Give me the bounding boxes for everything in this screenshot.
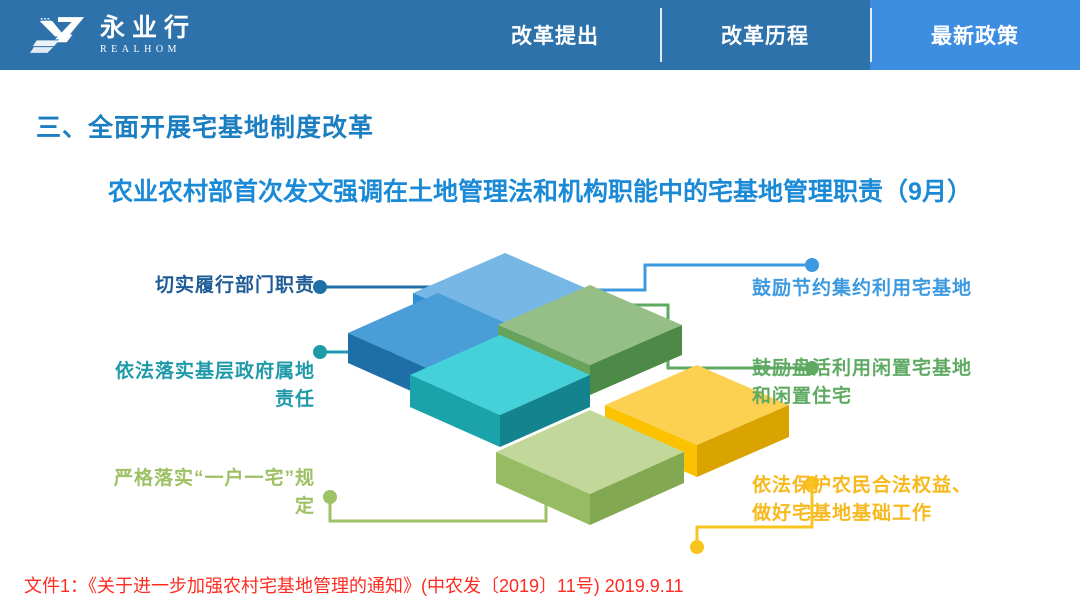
brand-name-cn: 永业行 [100,15,196,41]
connector-dot [323,490,337,504]
nav-tabs: 改革提出 改革历程 最新政策 [450,0,1080,70]
connector-dot [690,540,704,554]
tab-latest-policy[interactable]: 最新政策 [870,0,1080,70]
page-subtitle: 农业农村部首次发文强调在土地管理法和机构职能中的宅基地管理职责（9月） [0,172,1080,208]
label-left-1: 切实履行部门职责 [100,272,315,300]
label-left-3: 严格落实“一户一宅”规定 [100,465,315,520]
section-title: 三、全面开展宅基地制度改革 [36,108,374,144]
tab-label: 改革提出 [511,20,599,50]
tab-reform-history[interactable]: 改革历程 [660,0,870,70]
connector-dot [805,258,819,272]
footer-source-note: 文件1：《关于进一步加强农村宅基地管理的通知》(中农发〔2019〕11号) 20… [24,572,683,598]
tab-reform-proposal[interactable]: 改革提出 [450,0,660,70]
realhom-logo-icon [30,13,88,57]
brand-logo[interactable]: 永业行 REALHOM [0,0,196,70]
brand-name-en: REALHOM [100,44,196,55]
connector-left-3 [330,497,546,521]
label-left-2: 依法落实基层政府属地责任 [100,358,315,413]
label-right-2: 鼓励盘活利用闲置宅基地和闲置住宅 [752,355,987,410]
tab-label: 改革历程 [721,20,809,50]
connector-dot [313,345,327,359]
slide: 永业行 REALHOM 改革提出 改革历程 最新政策 三、全面开展宅基地制度改革… [0,0,1080,608]
header-bar: 永业行 REALHOM 改革提出 改革历程 最新政策 [0,0,1080,70]
label-right-1: 鼓励节约集约利用宅基地 [752,275,982,303]
tab-label: 最新政策 [931,20,1019,50]
connector-dot [313,280,327,294]
label-right-3: 依法保护农民合法权益、做好宅基地基础工作 [752,472,982,527]
